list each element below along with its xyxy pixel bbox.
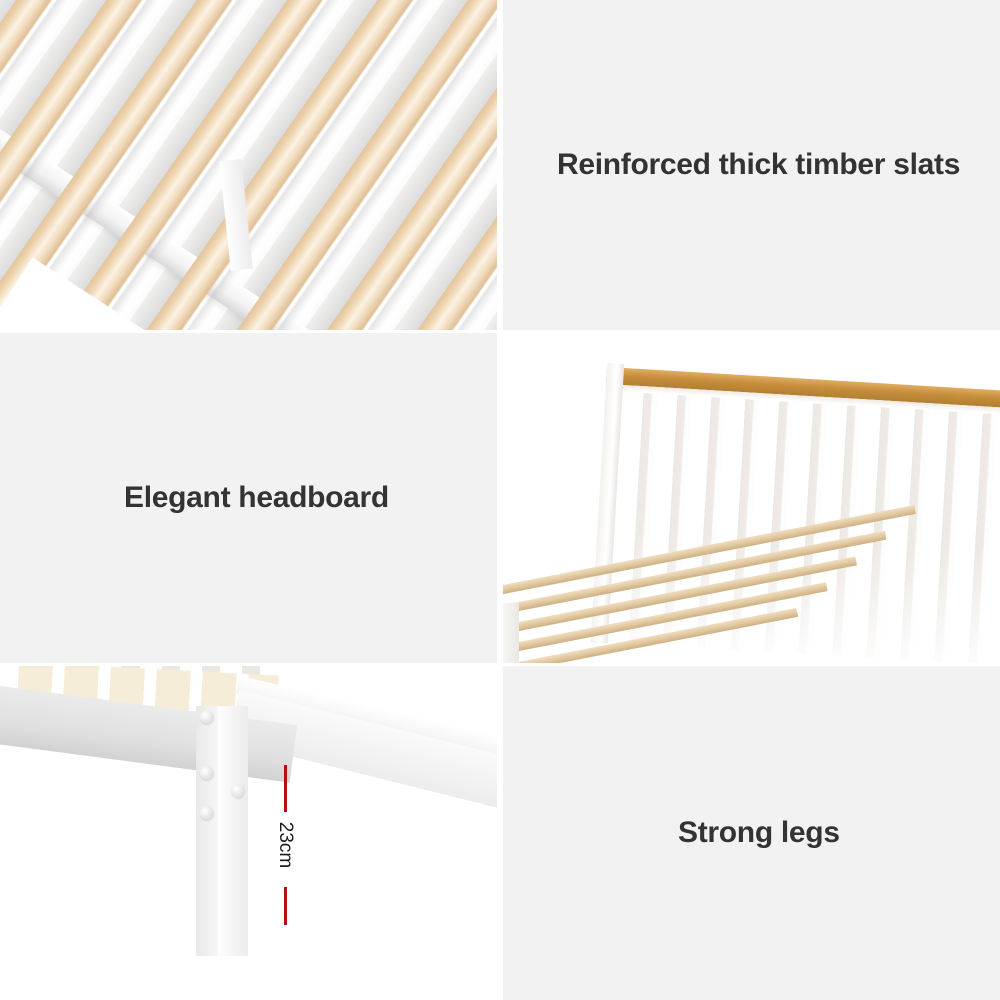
dimension-line-upper <box>284 765 287 812</box>
timber-slats-caption-panel: Reinforced thick timber slats <box>503 0 1000 330</box>
dimension-line-lower <box>284 887 287 925</box>
legs-photo <box>0 666 497 1000</box>
clearance-dimension-annotation: 23cm <box>278 765 292 925</box>
base-timber-slats <box>503 573 1000 663</box>
timber-slats-caption: Reinforced thick timber slats <box>503 147 960 183</box>
legs-caption-panel: Strong legs <box>503 666 1000 1000</box>
legs-caption: Strong legs <box>503 815 840 851</box>
headboard-caption: Elegant headboard <box>0 480 389 516</box>
dimension-label: 23cm <box>274 822 296 868</box>
screw-plug-icon <box>200 766 214 780</box>
timber-slats-photo <box>0 0 497 330</box>
feature-grid: Reinforced thick timber slats Elegant he… <box>0 0 1000 1000</box>
screw-plug-icon <box>200 806 214 820</box>
screw-plug-icon <box>231 784 245 798</box>
screw-plug-icon <box>200 710 214 724</box>
bed-corner-post <box>503 603 519 663</box>
headboard-photo <box>503 333 1000 663</box>
slat-gap-shadows <box>0 0 497 330</box>
bed-leg-post-inner-face <box>196 706 218 956</box>
headboard-caption-panel: Elegant headboard <box>0 333 497 663</box>
